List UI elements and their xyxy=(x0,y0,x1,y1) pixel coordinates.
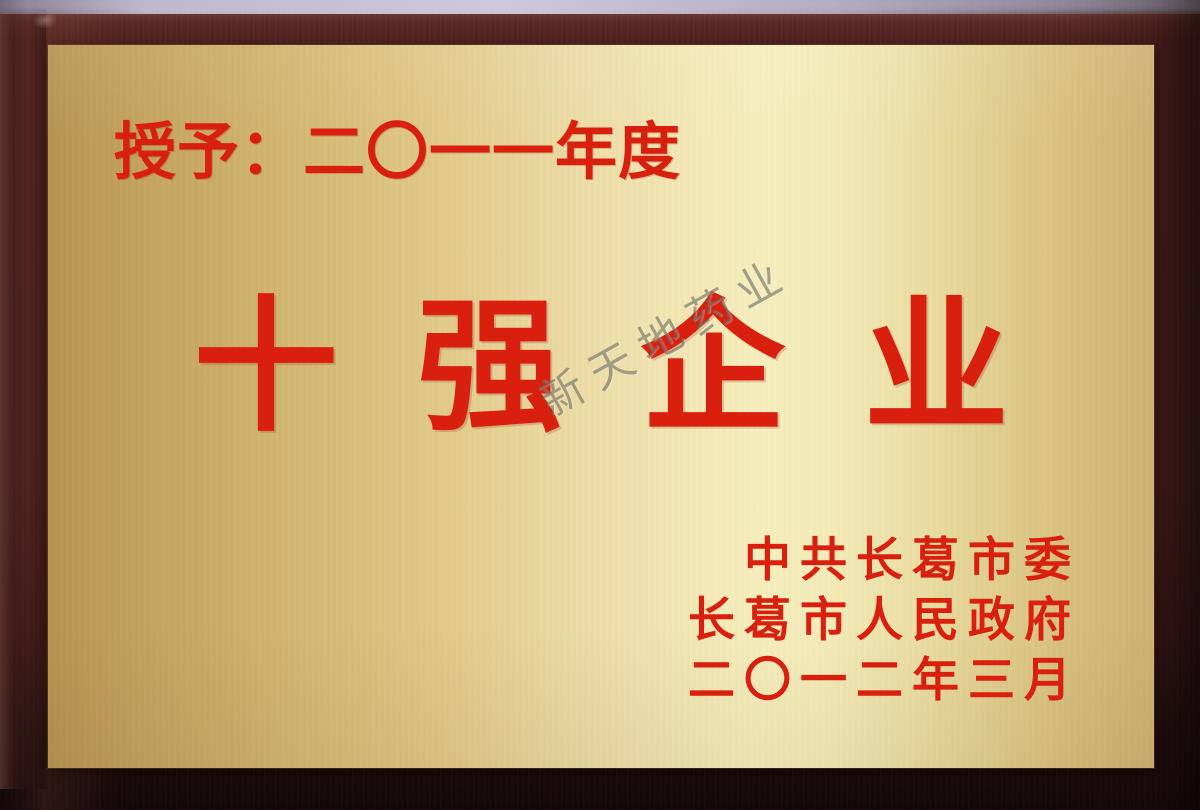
frame-corner-blemish xyxy=(33,11,57,30)
issuer-signature-block: 中共长葛市委 长葛市人民政府 二〇一二年三月 xyxy=(679,537,1080,704)
issuer-line-party-committee: 中共长葛市委 xyxy=(679,537,1080,584)
frame-top-highlight xyxy=(0,0,1200,14)
page-title: 十 强 企 业 xyxy=(48,295,1154,440)
gold-plate: 授予：二〇一一年度 十 强 企 业 中共长葛市委 长葛市人民政府 二〇一二年三月… xyxy=(48,45,1154,768)
issuer-line-government: 长葛市人民政府 xyxy=(679,597,1080,644)
award-plaque: 授予：二〇一一年度 十 强 企 业 中共长葛市委 长葛市人民政府 二〇一二年三月… xyxy=(0,0,1200,810)
award-year-line: 授予：二〇一一年度 xyxy=(114,121,681,183)
issue-date: 二〇一二年三月 xyxy=(679,657,1080,704)
frame-left-bevel xyxy=(0,9,46,789)
